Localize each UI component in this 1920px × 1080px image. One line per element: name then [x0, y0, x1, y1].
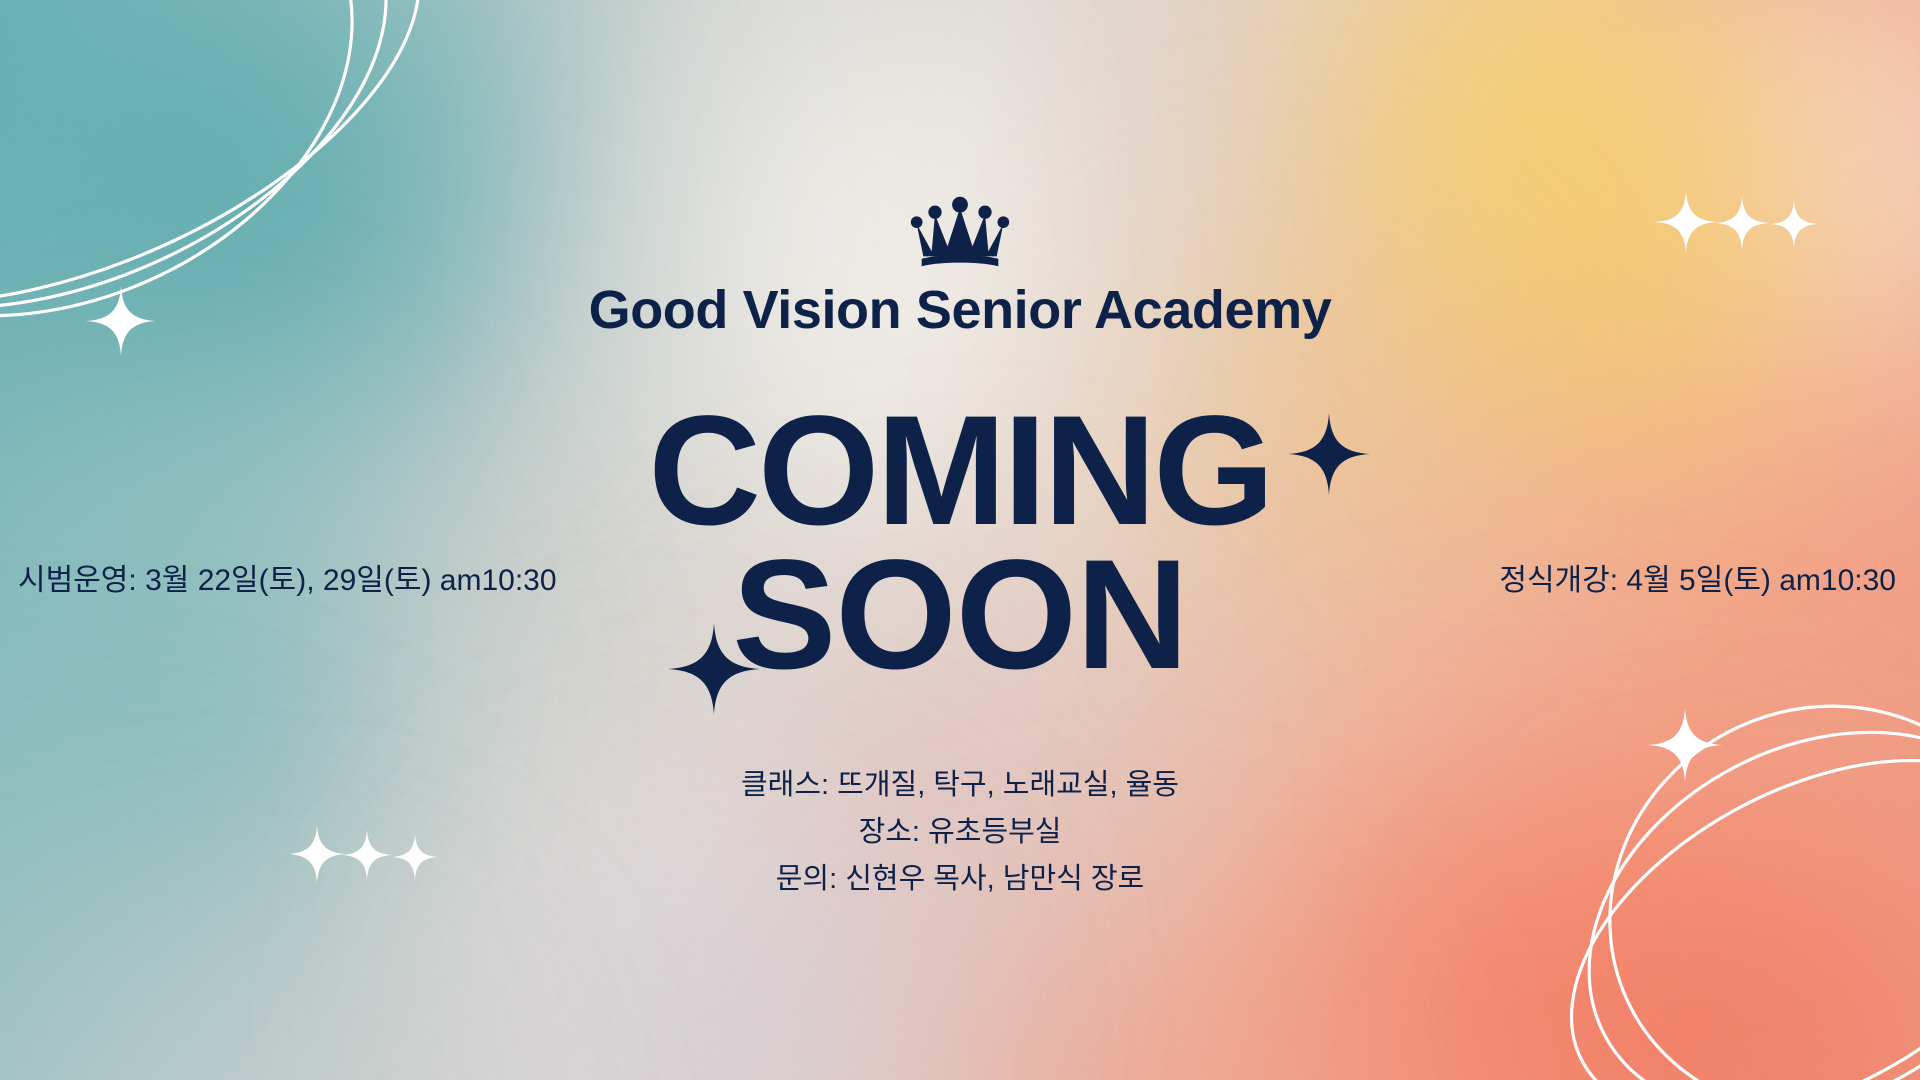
details-location: 장소: 유초등부실: [0, 809, 1920, 856]
headline: COMING SOON: [0, 400, 1920, 687]
side-note-trial-run: 시범운영: 3월 22일(토), 29일(토) am10:30: [18, 555, 557, 599]
poster-content: Good Vision Senior Academy COMING SOON 시…: [0, 0, 1920, 1080]
coming-soon-poster: Good Vision Senior Academy COMING SOON 시…: [0, 0, 1920, 1080]
brand-block: Good Vision Senior Academy: [0, 196, 1920, 339]
details-block: 클래스: 뜨개질, 탁구, 노래교실, 율동 장소: 유초등부실 문의: 신현우…: [0, 762, 1920, 903]
side-note-official-open: 정식개강: 4월 5일(토) am10:30: [1499, 555, 1896, 599]
crown-icon: [910, 196, 1010, 270]
headline-line-coming: COMING: [0, 400, 1920, 544]
details-classes: 클래스: 뜨개질, 탁구, 노래교실, 율동: [0, 762, 1920, 809]
brand-title: Good Vision Senior Academy: [0, 282, 1920, 339]
details-contact: 문의: 신현우 목사, 남만식 장로: [0, 856, 1920, 903]
